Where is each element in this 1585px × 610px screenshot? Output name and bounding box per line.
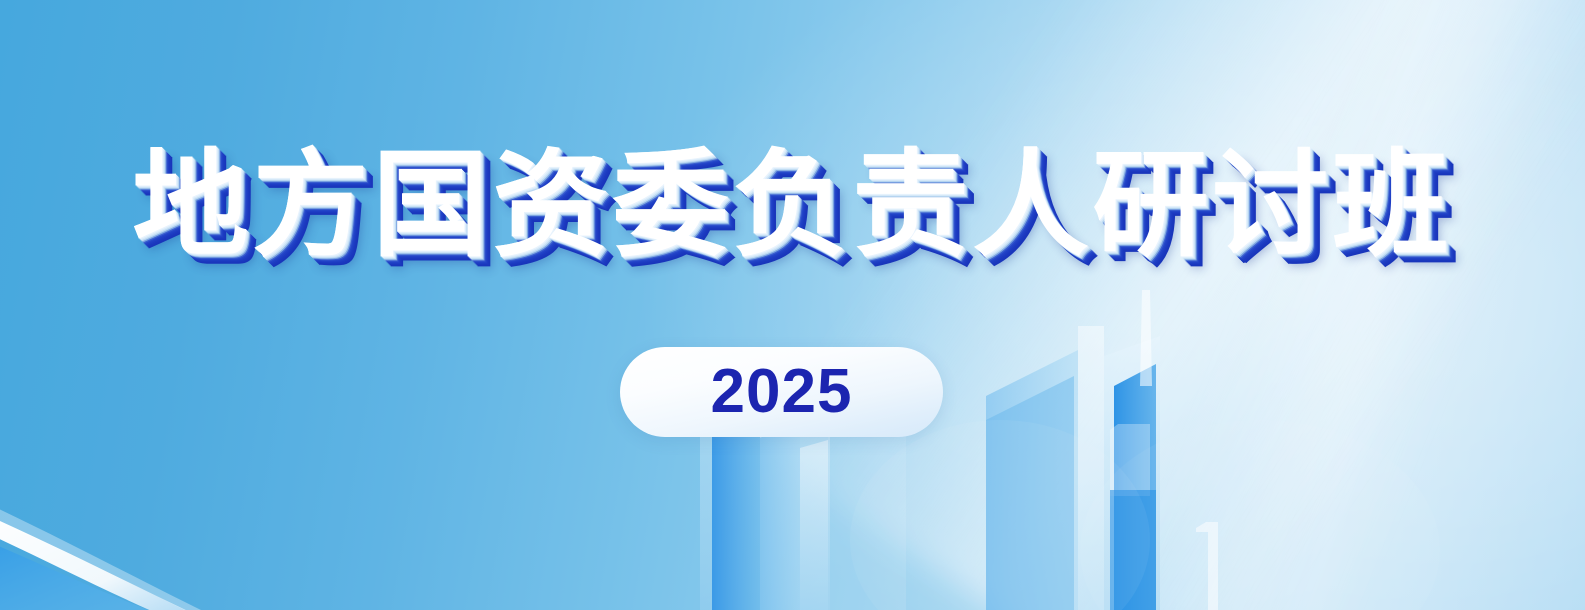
diagonal-light-streak-icon bbox=[754, 0, 1585, 610]
diagonal-light-streak-secondary-icon bbox=[1113, 0, 1585, 610]
city-skyline-icon bbox=[0, 290, 1585, 610]
conference-banner: 地方国资委负责人研讨班 2025 bbox=[0, 0, 1585, 610]
year-badge-label: 2025 bbox=[711, 361, 853, 423]
corner-light-ribbon-icon bbox=[0, 420, 350, 610]
background-glow bbox=[0, 0, 1585, 610]
banner-heading: 地方国资委负责人研讨班 bbox=[133, 148, 1453, 264]
year-badge: 2025 bbox=[620, 347, 943, 437]
banner-heading-wrap: 地方国资委负责人研讨班 bbox=[0, 148, 1585, 264]
